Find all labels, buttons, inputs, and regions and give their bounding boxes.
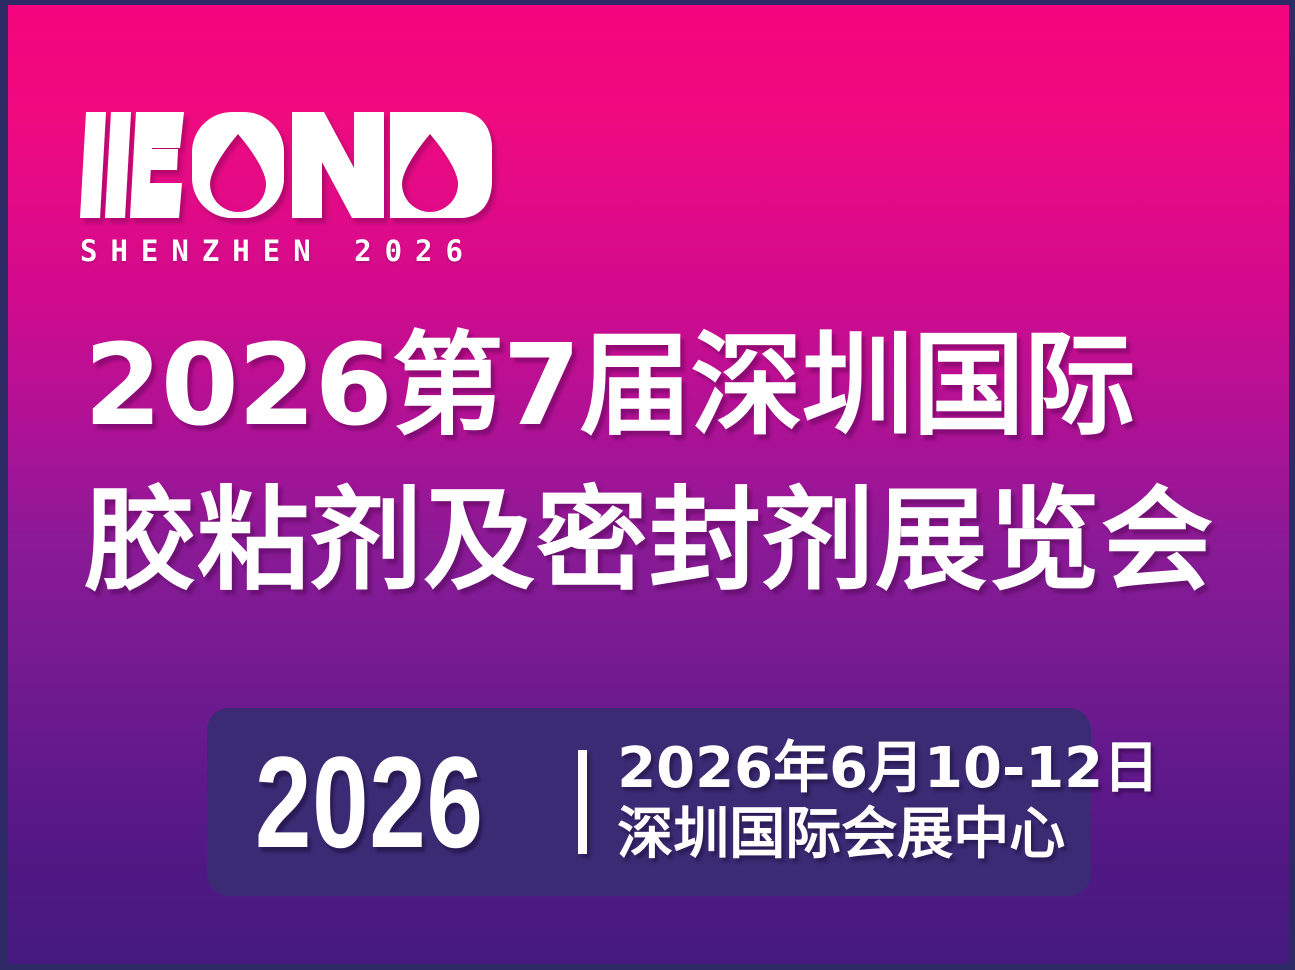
exhibition-poster: SHENZHEN 2026 2026第7届深圳国际 胶粘剂及密封剂展览会 202… xyxy=(0,0,1295,970)
event-venue: 深圳国际会展中心 xyxy=(617,802,1159,868)
event-details: 2026年6月10-12日 深圳国际会展中心 xyxy=(617,736,1159,867)
event-year: 2026 xyxy=(255,737,484,867)
bond-wordmark-icon xyxy=(78,104,500,226)
brand-logo: SHENZHEN 2026 xyxy=(78,104,508,268)
headline-line-2: 胶粘剂及密封剂展览会 xyxy=(84,467,1224,616)
event-info-panel: 2026 2026年6月10-12日 深圳国际会展中心 xyxy=(207,708,1091,896)
event-date: 2026年6月10-12日 xyxy=(617,736,1159,802)
logo-subtitle: SHENZHEN 2026 xyxy=(80,234,508,268)
vertical-divider xyxy=(578,750,587,854)
headline-line-1: 2026第7届深圳国际 xyxy=(84,312,1224,461)
poster-headline: 2026第7届深圳国际 胶粘剂及密封剂展览会 xyxy=(84,312,1224,616)
